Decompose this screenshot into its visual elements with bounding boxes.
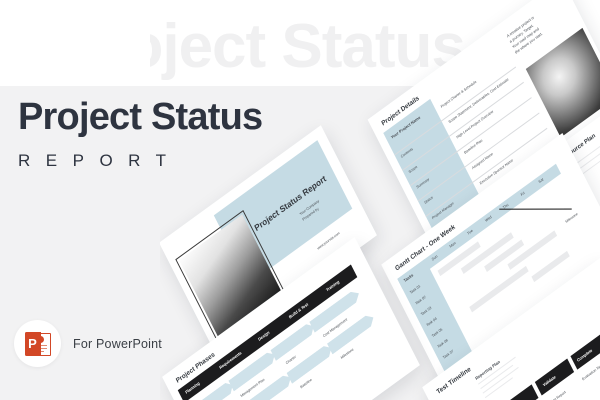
cover-sub: www.yoursite.com xyxy=(316,231,340,251)
stage-chip xyxy=(499,384,538,400)
section-label: Testing Report xyxy=(546,390,567,400)
person-photo xyxy=(526,28,600,138)
page-title: Project Status xyxy=(18,98,262,136)
milestone-leader-line xyxy=(499,209,572,210)
phase-item: Milestone xyxy=(340,347,354,360)
gantt-bar xyxy=(531,251,569,282)
milestone-annotation: Milestone xyxy=(565,212,579,224)
powerpoint-label: For PowerPoint xyxy=(73,337,162,351)
phase-item: Baseline xyxy=(300,378,313,390)
left-veil-top xyxy=(0,0,150,86)
phase-item: Charter xyxy=(285,355,297,366)
powerpoint-letter: P xyxy=(25,332,41,356)
gantt-bar xyxy=(469,266,528,313)
page-subtitle: REPORT xyxy=(18,151,262,171)
headline-block: Project Status REPORT xyxy=(18,98,262,171)
powerpoint-icon: P xyxy=(14,320,61,367)
section-label: Evaluation Tasks xyxy=(581,362,600,381)
powerpoint-badge[interactable]: P For PowerPoint xyxy=(14,320,162,367)
row-value: Scope Statement, Deliverables, Cost Esti… xyxy=(448,77,509,124)
row-value: Baseline Plan xyxy=(464,138,484,155)
quote-text: A creative project is a journey. Target.… xyxy=(506,13,546,56)
promo-graphic: Project Status Project Details Your Proj… xyxy=(0,0,600,400)
